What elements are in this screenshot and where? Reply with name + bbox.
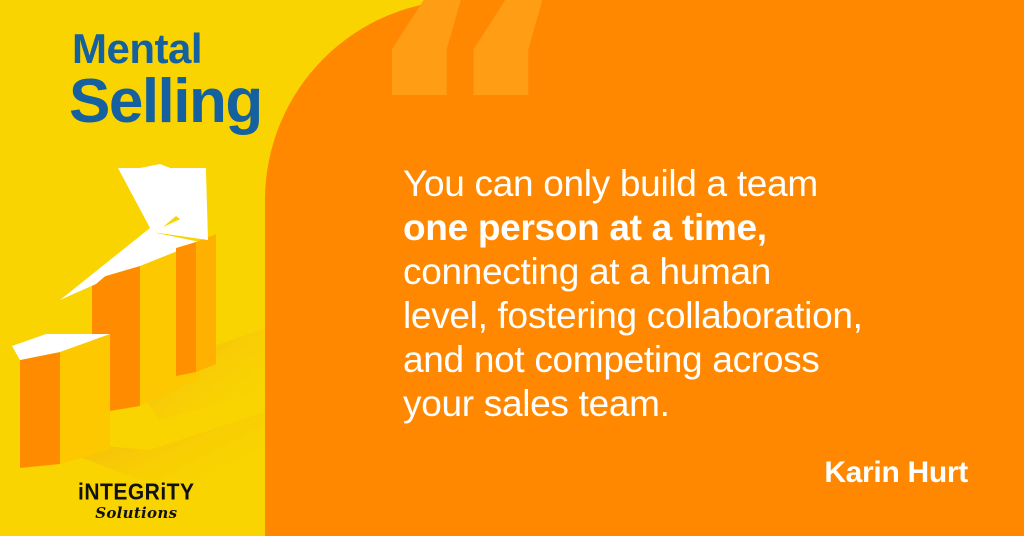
growth-chart-illustration [0, 120, 300, 480]
quote-card: Mental Selling [0, 0, 1024, 536]
brand-wordmark: Mental Selling [72, 28, 262, 133]
bar-tall-rear [176, 234, 216, 376]
quote-line-1: You can only build a team [403, 162, 983, 206]
brand-line-2: Selling [69, 71, 262, 133]
brand-line-1: Mental [72, 28, 262, 70]
logo-primary-text: iNTEGRiTY [78, 481, 195, 504]
quote-line-6: your sales team. [403, 382, 983, 426]
quote-line-2: one person at a time, [403, 206, 983, 250]
integrity-solutions-logo: iNTEGRiTY Solutions [78, 482, 195, 521]
bar-short [12, 334, 110, 468]
quote-line-4: level, fostering collaboration, [403, 294, 983, 338]
quote-line-3: connecting at a human [403, 250, 983, 294]
author-attribution: Karin Hurt [824, 456, 968, 490]
quote-text: You can only build a team one person at … [403, 162, 983, 426]
logo-secondary-text: Solutions [78, 506, 195, 521]
quote-line-5: and not competing across [403, 338, 983, 382]
